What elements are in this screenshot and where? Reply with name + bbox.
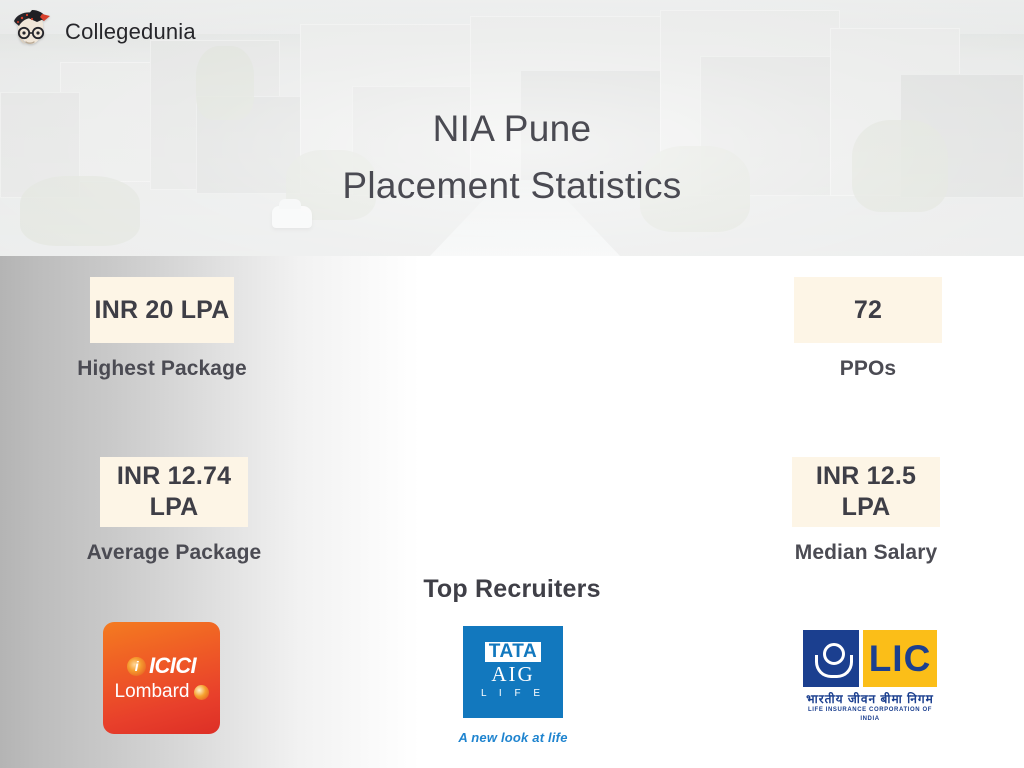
lic-english-name: LIFE INSURANCE CORPORATION OF INDIA xyxy=(803,706,937,724)
stat-median-salary: INR 12.5 LPA Median Salary xyxy=(750,457,982,565)
top-recruiters-heading: Top Recruiters xyxy=(0,575,1024,604)
lic-hindi-name: भारतीय जीवन बीमा निगम xyxy=(803,692,937,706)
title-line-1: NIA Pune xyxy=(0,100,1024,157)
recruiter-logo-icici-lombard: i ICICI Lombard xyxy=(103,622,220,734)
lombard-wordmark: Lombard xyxy=(115,681,209,703)
recruiter-logos: i ICICI Lombard TATA AIG L I F E A new l… xyxy=(0,614,1024,764)
stat-ppos: 72 PPOs xyxy=(752,277,984,381)
tata-aig-tagline: A new look at life xyxy=(433,730,593,745)
recruiter-logo-tata-aig-life: TATA AIG L I F E xyxy=(463,626,563,718)
placement-statistics-infographic: Collegedunia NIA Pune Placement Statisti… xyxy=(0,0,1024,768)
stat-average-package: INR 12.74 LPA Average Package xyxy=(58,457,290,565)
stat-value: INR 20 LPA xyxy=(90,277,234,343)
stat-value: 72 xyxy=(794,277,942,343)
page-title: NIA Pune Placement Statistics xyxy=(0,100,1024,214)
stat-value: INR 12.5 LPA xyxy=(792,457,940,527)
stat-label: Highest Package xyxy=(46,357,278,381)
life-wordmark: L I F E xyxy=(481,686,545,702)
lic-hands-icon xyxy=(814,641,848,677)
aig-wordmark: AIG xyxy=(491,662,534,686)
stat-label: Average Package xyxy=(58,541,290,565)
stat-highest-package: INR 20 LPA Highest Package xyxy=(46,277,278,381)
icici-dot-icon: i xyxy=(127,657,146,676)
icici-name: ICICI xyxy=(149,653,196,679)
brand-logo[interactable]: Collegedunia xyxy=(8,8,196,56)
brand-name: Collegedunia xyxy=(65,19,196,45)
title-line-2: Placement Statistics xyxy=(0,157,1024,214)
stat-value: INR 12.74 LPA xyxy=(100,457,248,527)
lic-mark: LIC xyxy=(803,630,937,687)
graduate-face-logo-icon xyxy=(8,8,56,56)
lombard-swirl-icon xyxy=(194,685,209,700)
stat-label: PPOs xyxy=(752,357,984,381)
stat-label: Median Salary xyxy=(750,541,982,565)
lombard-name: Lombard xyxy=(115,681,190,703)
lic-emblem-icon xyxy=(803,630,859,687)
recruiter-logo-lic: LIC भारतीय जीवन बीमा निगम LIFE INSURANCE… xyxy=(803,630,937,724)
tata-wordmark: TATA xyxy=(485,642,541,662)
lic-abbr: LIC xyxy=(863,630,937,687)
icici-wordmark: i ICICI xyxy=(127,653,196,679)
